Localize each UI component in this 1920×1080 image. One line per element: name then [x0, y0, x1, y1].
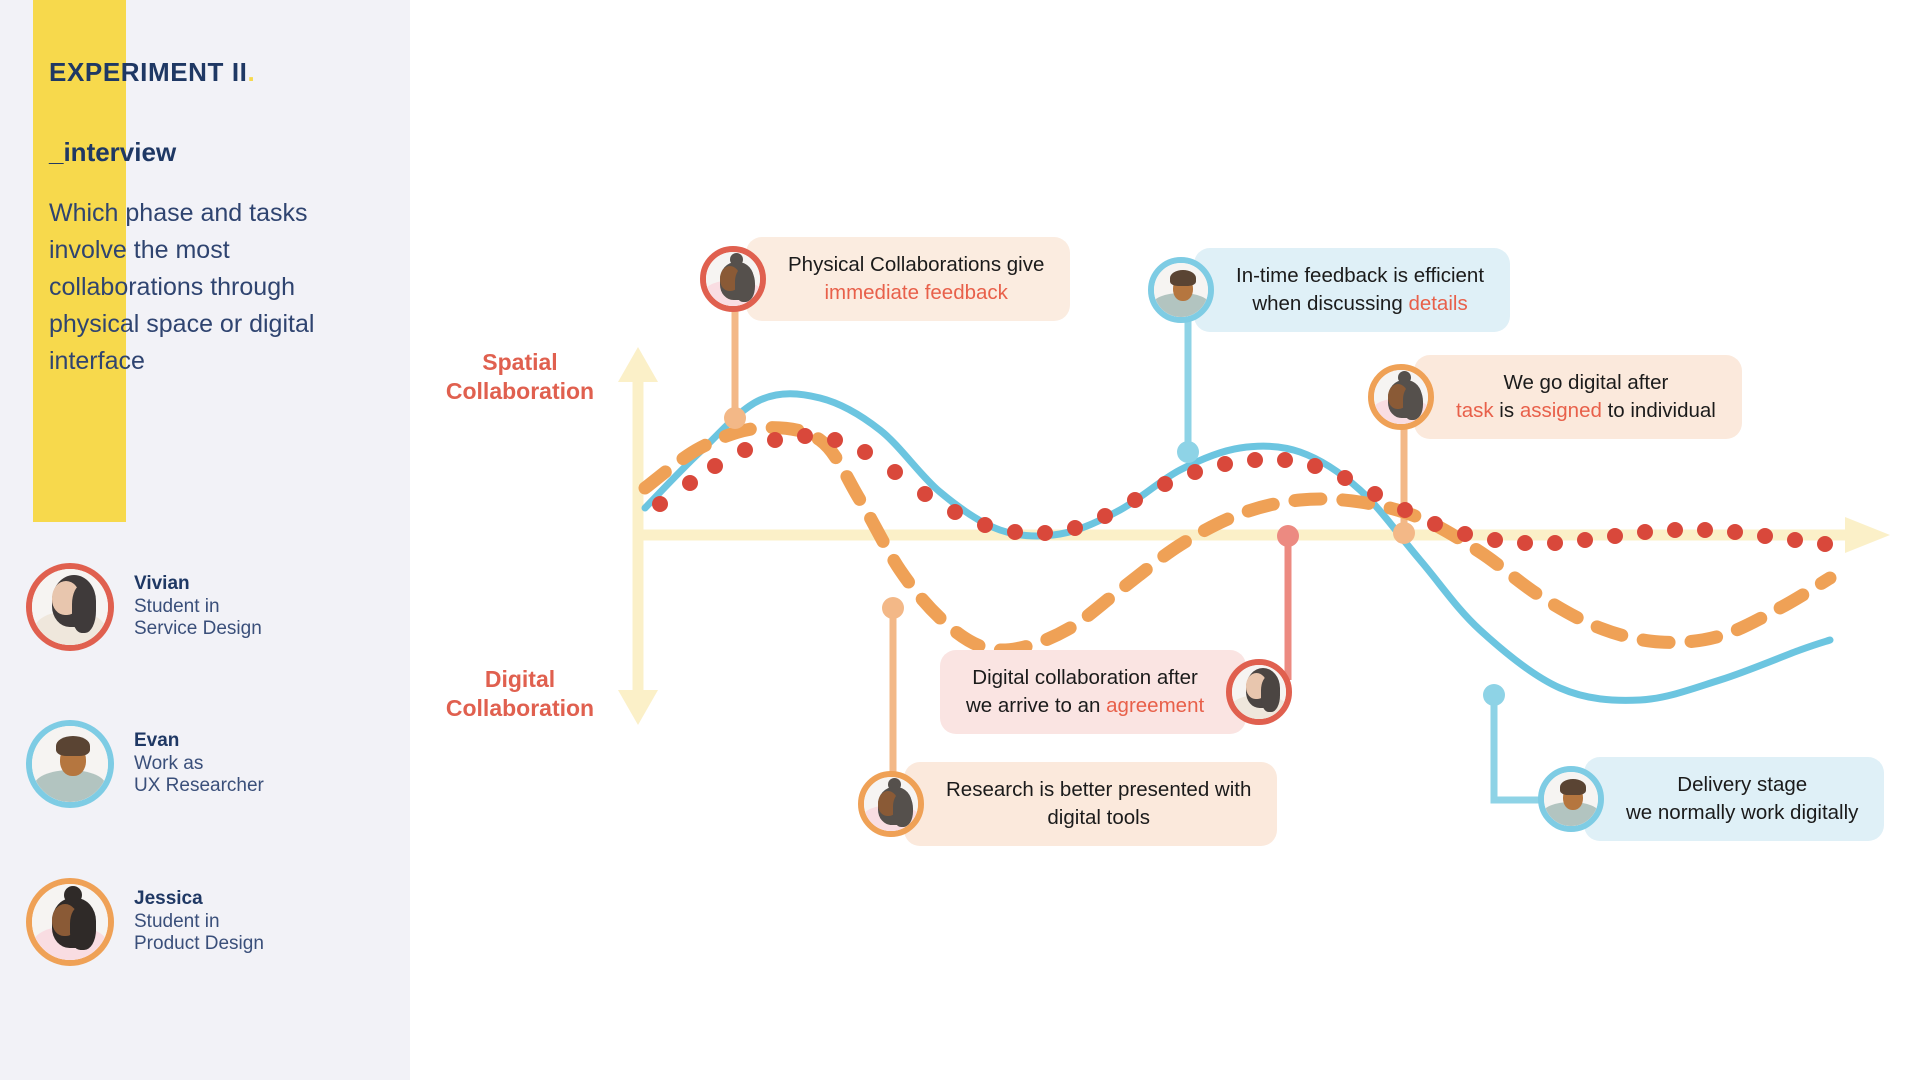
callout-line1: Digital collaboration after — [966, 664, 1204, 692]
chart-dot — [1337, 470, 1353, 486]
chart-dot — [1727, 524, 1743, 540]
callout-avatar-vivian — [1226, 659, 1292, 725]
axis-label-spatial-line2: Collaboration — [410, 377, 630, 406]
callout-we-go-digital[interactable]: We go digital after task is assigned to … — [1368, 355, 1742, 439]
persona-role-line1: Work as — [134, 753, 264, 776]
x-axis-arrow — [1845, 517, 1890, 553]
callout-text: Digital collaboration after we arrive to… — [940, 650, 1246, 734]
chart-marker-delivery-stage — [1483, 684, 1505, 706]
callout-digital-collaboration-agreement[interactable]: Digital collaboration after we arrive to… — [940, 650, 1292, 734]
chart-dot — [1487, 532, 1503, 548]
chart-dot — [1367, 486, 1383, 502]
chart-dot — [797, 428, 813, 444]
chart-dot — [707, 458, 723, 474]
callout-text: We go digital after task is assigned to … — [1414, 355, 1742, 439]
chart-dot — [887, 464, 903, 480]
chart-dot — [827, 432, 843, 448]
axis-label-digital-line1: Digital — [410, 665, 630, 694]
callout-line2-pre: when discussing — [1252, 292, 1408, 315]
eyebrow-text: EXPERIMENT II — [49, 57, 248, 87]
chart-dot — [737, 442, 753, 458]
page-eyebrow: EXPERIMENT II. — [49, 57, 255, 88]
persona-card-vivian: Vivian Student in Service Design — [26, 563, 262, 651]
callout-text: Delivery stage we normally work digitall… — [1584, 757, 1884, 841]
chart-marker-research-digital-tools — [882, 597, 904, 619]
axis-label-digital-line2: Collaboration — [410, 694, 630, 723]
eyebrow-dot: . — [248, 57, 256, 87]
callout-research-digital-tools[interactable]: Research is better presented with digita… — [858, 762, 1277, 846]
persona-card-jessica: Jessica Student in Product Design — [26, 878, 264, 966]
chart-dot — [977, 517, 993, 533]
chart-dot — [682, 475, 698, 491]
chart-dot — [1547, 535, 1563, 551]
persona-name: Vivian — [134, 573, 262, 596]
chart-dot — [857, 444, 873, 460]
persona-role-line1: Student in — [134, 596, 262, 619]
chart-marker-in-time-feedback — [1177, 441, 1199, 463]
callout-line1: Physical Collaborations give — [788, 251, 1044, 279]
callout-text: In-time feedback is efficient when discu… — [1194, 248, 1510, 332]
callout-line2: immediate feedback — [788, 279, 1044, 307]
persona-name: Jessica — [134, 888, 264, 911]
chart-dot — [1397, 502, 1413, 518]
chart-dot — [1667, 522, 1683, 538]
chart-dot — [1247, 452, 1263, 468]
callout-line1: We go digital after — [1456, 369, 1716, 397]
chart-dot — [1757, 528, 1773, 544]
chart-dot — [1457, 526, 1473, 542]
persona-text: Jessica Student in Product Design — [134, 888, 264, 956]
chart-dot — [1067, 520, 1083, 536]
chart-dot — [1217, 456, 1233, 472]
chart-dot — [1187, 464, 1203, 480]
callout-text: Physical Collaborations give immediate f… — [746, 237, 1070, 321]
persona-role-line2: Service Design — [134, 618, 262, 641]
callout-line2: when discussing details — [1236, 290, 1484, 318]
avatar-vivian — [26, 563, 114, 651]
chart-dot — [1307, 458, 1323, 474]
page-title: _interview — [49, 137, 176, 168]
chart-dot — [652, 496, 668, 512]
callout-avatar-evan — [1538, 766, 1604, 832]
persona-name: Evan — [134, 730, 264, 753]
callout-avatar-evan — [1148, 257, 1214, 323]
callout-line1: In-time feedback is efficient — [1236, 262, 1484, 290]
callout-in-time-feedback[interactable]: In-time feedback is efficient when discu… — [1148, 248, 1510, 332]
persona-role-line2: Product Design — [134, 933, 264, 956]
chart-series-dashed — [645, 428, 1830, 650]
chart-dot — [1157, 476, 1173, 492]
chart-dot — [1637, 524, 1653, 540]
chart-dot — [767, 432, 783, 448]
callout-line2: digital tools — [946, 804, 1251, 832]
chart-dot — [1577, 532, 1593, 548]
chart-dot — [1097, 508, 1113, 524]
callout-highlight: agreement — [1106, 694, 1204, 717]
chart-dot — [917, 486, 933, 502]
callout-avatar-jessica — [1368, 364, 1434, 430]
chart-dot — [1277, 452, 1293, 468]
callout-delivery-stage[interactable]: Delivery stage we normally work digitall… — [1538, 757, 1884, 841]
callout-highlight: immediate feedback — [824, 281, 1007, 304]
chart-marker-digital-collaboration-agreement — [1277, 525, 1299, 547]
persona-role-line1: Student in — [134, 911, 264, 934]
chart-dot — [1697, 522, 1713, 538]
callout-line2-post: to individual — [1602, 399, 1716, 422]
chart-dot — [1007, 524, 1023, 540]
axis-label-digital: Digital Collaboration — [410, 665, 630, 723]
callout-text: Research is better presented with digita… — [904, 762, 1277, 846]
callout-highlight: details — [1408, 292, 1467, 315]
avatar-jessica — [26, 878, 114, 966]
chart-dot — [1817, 536, 1833, 552]
callout-line2: task is assigned to individual — [1456, 397, 1716, 425]
callout-line2-mid: is — [1494, 399, 1520, 422]
callout-highlight-task: task — [1456, 399, 1494, 422]
chart-dot — [947, 504, 963, 520]
callout-line2-pre: we arrive to an — [966, 694, 1106, 717]
chart-dot — [1607, 528, 1623, 544]
callout-highlight-assigned: assigned — [1520, 399, 1602, 422]
axis-label-spatial: Spatial Collaboration — [410, 348, 630, 406]
callout-line1: Delivery stage — [1626, 771, 1858, 799]
persona-text: Vivian Student in Service Design — [134, 573, 262, 641]
persona-role-line2: UX Researcher — [134, 775, 264, 798]
chart-dot — [1787, 532, 1803, 548]
callout-avatar-jessica — [858, 771, 924, 837]
slide-root: EXPERIMENT II. _interview Which phase an… — [0, 0, 1920, 1080]
research-question: Which phase and tasks involve the most c… — [49, 195, 379, 380]
callout-line2: we normally work digitally — [1626, 799, 1858, 827]
chart-dot — [1037, 525, 1053, 541]
chart-dot — [1517, 535, 1533, 551]
chart-marker-we-go-digital — [1393, 522, 1415, 544]
callout-avatar-jessica — [700, 246, 766, 312]
axis-label-spatial-line1: Spatial — [410, 348, 630, 377]
callout-line1: Research is better presented with — [946, 776, 1251, 804]
chart-dot — [1127, 492, 1143, 508]
avatar-evan — [26, 720, 114, 808]
callout-physical-collaborations[interactable]: Physical Collaborations give immediate f… — [700, 237, 1070, 321]
chart-marker-physical-collaborations — [724, 407, 746, 429]
chart-dot — [1427, 516, 1443, 532]
persona-text: Evan Work as UX Researcher — [134, 730, 264, 798]
callout-line2: we arrive to an agreement — [966, 692, 1204, 720]
persona-card-evan: Evan Work as UX Researcher — [26, 720, 264, 808]
